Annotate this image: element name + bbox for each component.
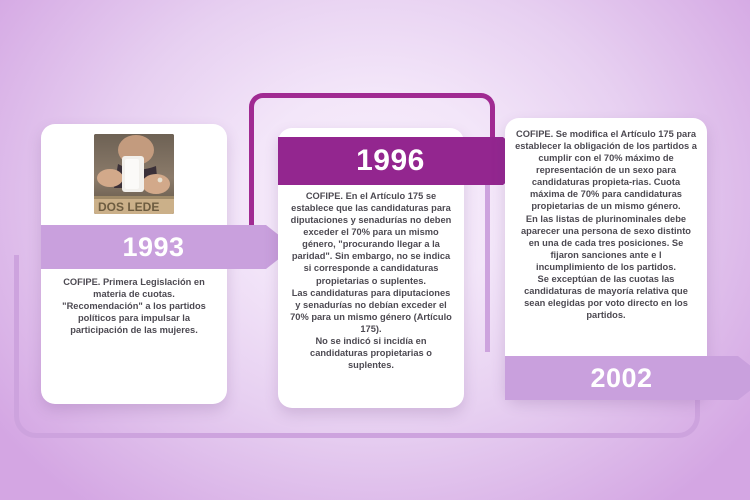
timeline-infographic: DOS LEDE COFIPE. Primera Legislación en … [0,0,750,500]
svg-text:DOS LEDE: DOS LEDE [98,200,159,214]
paragraph: Las candidaturas para diputaciones y sen… [288,287,454,335]
paragraph: COFIPE. En el Artículo 175 se establece … [288,190,454,287]
milestone-body-1993: COFIPE. Primera Legislación en materia d… [53,276,215,336]
paragraph: En las listas de plurinominales debe apa… [515,213,697,273]
milestone-body-1996: COFIPE. En el Artículo 175 se establece … [288,190,454,371]
connector-light-right-stem [485,182,490,352]
paragraph: COFIPE. Primera Legislación en materia d… [53,276,215,336]
milestone-body-2002: COFIPE. Se modifica el Artículo 175 para… [515,128,697,321]
year-ribbon-2002: 2002 [505,356,750,400]
year-ribbon-1996: 1996 [278,137,531,185]
paragraph: COFIPE. Se modifica el Artículo 175 para… [515,128,697,213]
paragraph: Se exceptúan de las cuotas las candidatu… [515,273,697,321]
paragraph: No se indicó si incidía en candidaturas … [288,335,454,371]
year-label-2002: 2002 [590,363,652,394]
year-label-1993: 1993 [122,232,184,263]
ballot-photo: DOS LEDE [94,134,174,214]
year-ribbon-1993: 1993 [41,225,294,269]
year-label-1996: 1996 [356,144,425,178]
connector-dark-left-stem [249,150,254,238]
ballot-photo-illustration: DOS LEDE [94,134,174,214]
